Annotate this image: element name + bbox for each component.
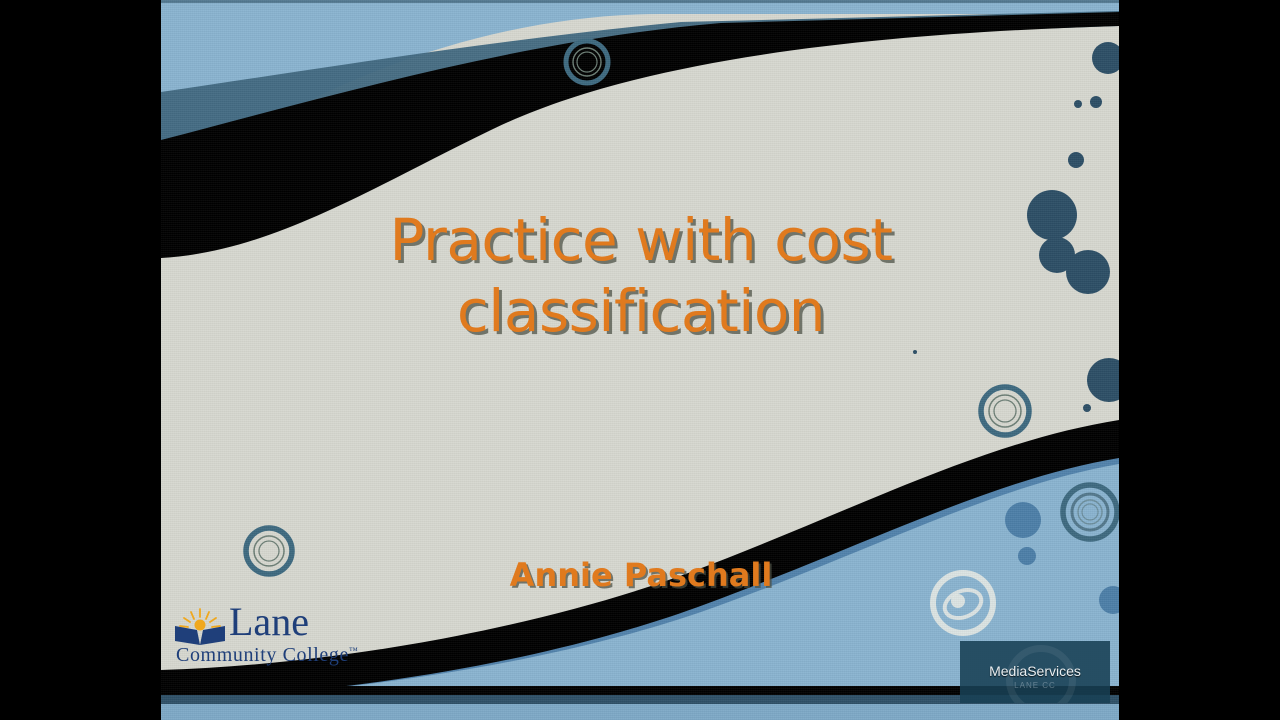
- dot-top-right-small: [1090, 96, 1102, 108]
- letterbox-bar-right: [1119, 0, 1280, 720]
- logo-wordmark: Lane: [229, 602, 309, 642]
- lane-community-college-logo: Lane Community College™: [173, 608, 393, 670]
- watermark-label: MediaServices: [960, 663, 1110, 679]
- open-book-sunburst-icon: [173, 608, 227, 646]
- slide-title: Practice with cost classification: [261, 205, 1021, 347]
- slide-title-line-2: classification: [261, 276, 1021, 347]
- logo-tagline-text: Community College: [176, 644, 349, 666]
- mediaservices-watermark: MediaServices LANE CC: [960, 641, 1110, 703]
- slide-top-edge-band: [161, 0, 1119, 3]
- letterbox-bar-left: [0, 0, 161, 720]
- dot-right-tiny: [1083, 404, 1091, 412]
- sun-disc-icon: [195, 620, 206, 631]
- video-player-viewport: Practice with cost classification Annie …: [0, 0, 1280, 720]
- dot-on-curve: [1005, 502, 1041, 538]
- presentation-slide: Practice with cost classification Annie …: [161, 0, 1119, 720]
- dot-mid-speck: [913, 350, 917, 354]
- dot-right-pair-b: [1066, 250, 1110, 294]
- dot-curve-small: [1018, 547, 1036, 565]
- slide-bottom-blue-band: [161, 704, 1119, 720]
- logo-trademark: ™: [349, 645, 358, 655]
- slide-presenter-name: Annie Paschall: [301, 556, 981, 594]
- dot-right-upper: [1074, 100, 1082, 108]
- logo-tagline: Community College™: [176, 644, 358, 667]
- dot-right-mid-small: [1068, 152, 1084, 168]
- watermark-sublabel: LANE CC: [960, 681, 1110, 690]
- logo-mark-row: Lane: [173, 608, 393, 648]
- slide-title-line-1: Practice with cost: [261, 205, 1021, 276]
- dot-right-big: [1027, 190, 1077, 240]
